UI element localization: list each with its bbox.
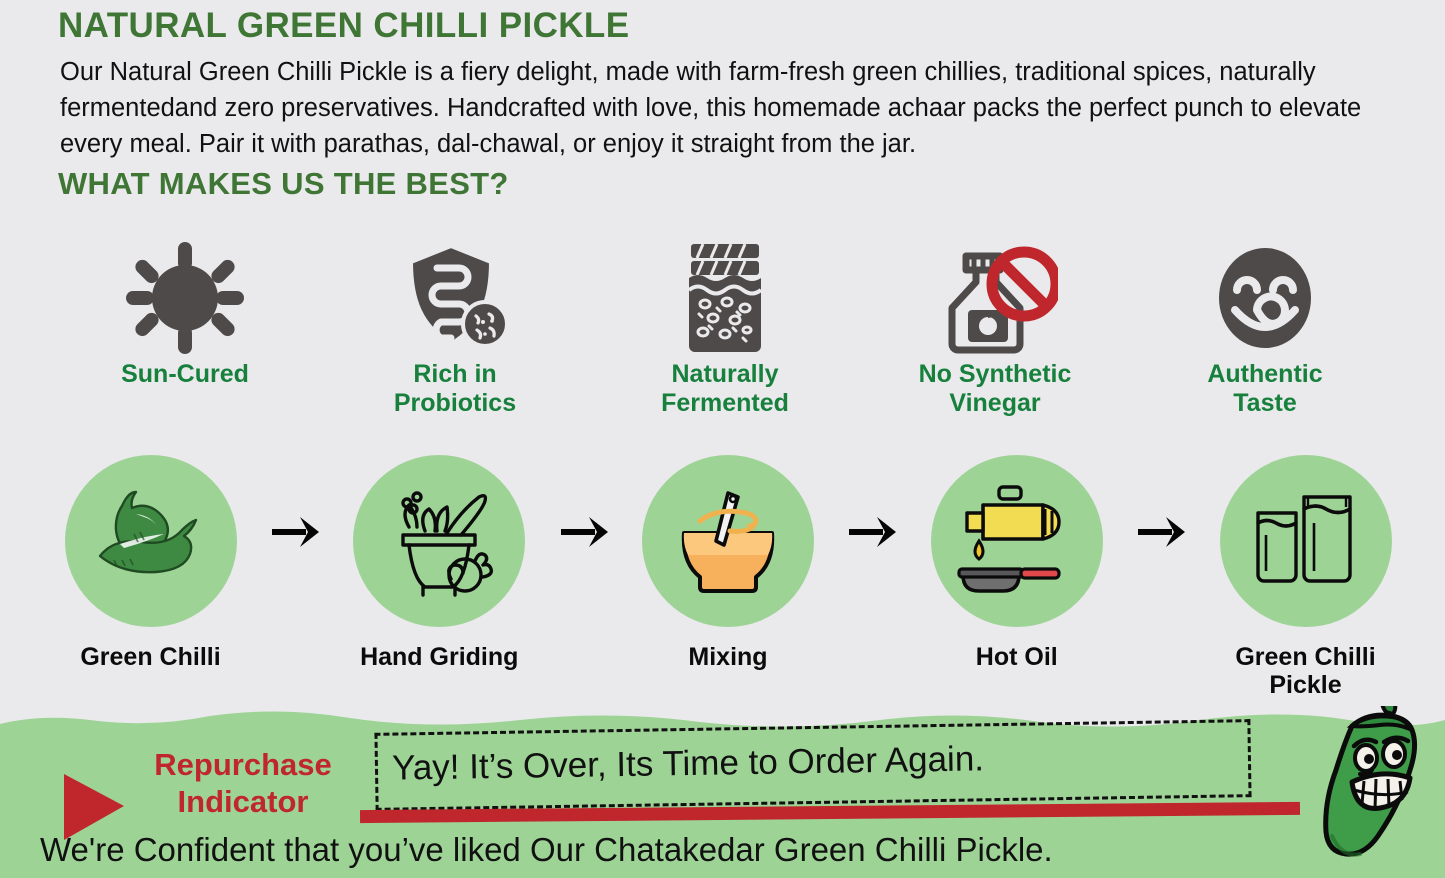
no-vinegar-bottle-icon (932, 248, 1058, 348)
smiling-chilli-mascot (1312, 706, 1442, 878)
repurchase-indicator-label: Repurchase Indicator (128, 746, 358, 820)
process-arrow-3 (841, 515, 903, 549)
feature-label: Sun-Cured (121, 360, 249, 389)
feature-label: No Synthetic Vinegar (919, 360, 1072, 418)
step-label: Green Chilli Pickle (1235, 643, 1375, 699)
oil-bottle-pan-icon (953, 483, 1081, 599)
process-step-green-chilli: Green Chilli (58, 455, 243, 671)
step-circle (642, 455, 814, 627)
green-chilli-icon (86, 486, 216, 596)
shield-gut-probiotic-icon (399, 248, 511, 348)
step-label: Hand Griding (360, 643, 518, 671)
process-arrow-1 (264, 515, 326, 549)
infographic-page: NATURAL GREEN CHILLI PICKLE Our Natural … (0, 0, 1445, 878)
pickle-jars-icon (1246, 483, 1366, 599)
process-step-green-chilli-pickle: Green Chilli Pickle (1213, 455, 1398, 699)
process-flow-row: Green Chilli (58, 455, 1398, 699)
process-arrow-2 (553, 515, 615, 549)
feature-sun-cured: Sun-Cured (60, 248, 310, 389)
step-label: Mixing (688, 643, 767, 671)
mortar-pestle-icon (379, 483, 499, 599)
section-subtitle: WHAT MAKES US THE BEST? (58, 166, 1418, 202)
process-step-hot-oil: Hot Oil (924, 455, 1109, 671)
header-block: NATURAL GREEN CHILLI PICKLE Our Natural … (58, 4, 1418, 202)
confidence-text: We're Confident that you’ve liked Our Ch… (40, 828, 1340, 872)
step-circle (1220, 455, 1392, 627)
feature-rich-in-probiotics: Rich in Probiotics (330, 248, 580, 418)
feature-no-synthetic-vinegar: No Synthetic Vinegar (870, 248, 1120, 418)
process-arrow-4 (1130, 515, 1192, 549)
feature-label: Rich in Probiotics (394, 360, 516, 418)
fermentation-jar-icon (675, 248, 775, 348)
product-description: Our Natural Green Chilli Pickle is a fie… (60, 54, 1400, 162)
mixing-bowl-icon (666, 485, 790, 597)
step-circle (931, 455, 1103, 627)
step-circle (65, 455, 237, 627)
step-label: Green Chilli (80, 643, 220, 671)
sun-icon (126, 248, 244, 348)
features-row: Sun-Cured (60, 248, 1390, 418)
feature-label: Naturally Fermented (661, 360, 789, 418)
feature-naturally-fermented: Naturally Fermented (600, 248, 850, 418)
feature-label: Authentic Taste (1207, 360, 1322, 418)
feature-authentic-taste: Authentic Taste (1140, 248, 1390, 418)
repurchase-banner: Repurchase Indicator Yay! It’s Over, Its… (0, 706, 1445, 878)
step-label: Hot Oil (976, 643, 1058, 671)
page-title: NATURAL GREEN CHILLI PICKLE (58, 4, 1418, 48)
step-circle (353, 455, 525, 627)
process-step-mixing: Mixing (636, 455, 821, 671)
tasty-face-icon (1213, 248, 1317, 348)
process-step-hand-griding: Hand Griding (347, 455, 532, 671)
